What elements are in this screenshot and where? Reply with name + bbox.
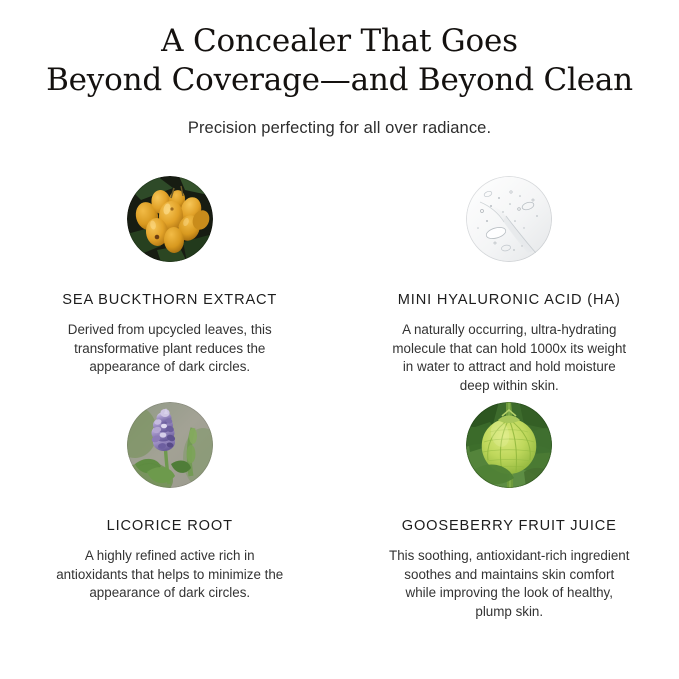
ingredient-card-gooseberry-fruit-juice: GOOSEBERRY FRUIT JUICE This soothing, an… bbox=[340, 402, 679, 621]
ingredient-name: SEA BUCKTHORN EXTRACT bbox=[62, 291, 277, 309]
ingredient-description: Derived from upcycled leaves, this trans… bbox=[48, 321, 291, 377]
ingredient-card-mini-hyaluronic-acid: MINI HYALURONIC ACID (HA) A naturally oc… bbox=[340, 160, 679, 402]
ingredient-name: LICORICE ROOT bbox=[107, 517, 233, 535]
headline-block: A Concealer That Goes Beyond Coverage—an… bbox=[0, 0, 679, 139]
page-title-line-1: A Concealer That Goes bbox=[161, 23, 518, 59]
page-title-line-2: Beyond Coverage—and Beyond Clean bbox=[0, 61, 679, 100]
ingredient-highlights-panel: A Concealer That Goes Beyond Coverage—an… bbox=[0, 0, 679, 679]
ingredient-description: A highly refined active rich in antioxid… bbox=[48, 547, 291, 603]
page-title: A Concealer That Goes Beyond Coverage—an… bbox=[0, 22, 679, 100]
ingredient-card-licorice-root: LICORICE ROOT A highly refined active ri… bbox=[0, 402, 340, 621]
ingredient-name: GOOSEBERRY FRUIT JUICE bbox=[402, 517, 617, 535]
sea-buckthorn-berries-photo bbox=[127, 176, 213, 262]
ingredient-card-sea-buckthorn-extract: SEA BUCKTHORN EXTRACT Derived from upcyc… bbox=[0, 160, 340, 402]
ingredient-description: A naturally occurring, ultra-hydrating m… bbox=[388, 321, 631, 395]
hyaluronic-acid-gel-texture-photo bbox=[466, 176, 552, 262]
ingredient-name: MINI HYALURONIC ACID (HA) bbox=[398, 291, 621, 309]
gooseberry-husk-fruit-photo bbox=[466, 402, 552, 488]
ingredient-description: This soothing, antioxidant-rich ingredie… bbox=[388, 547, 631, 621]
page-subtitle: Precision perfecting for all over radian… bbox=[0, 117, 679, 139]
ingredient-grid: SEA BUCKTHORN EXTRACT Derived from upcyc… bbox=[0, 160, 679, 621]
licorice-root-flower-photo bbox=[127, 402, 213, 488]
